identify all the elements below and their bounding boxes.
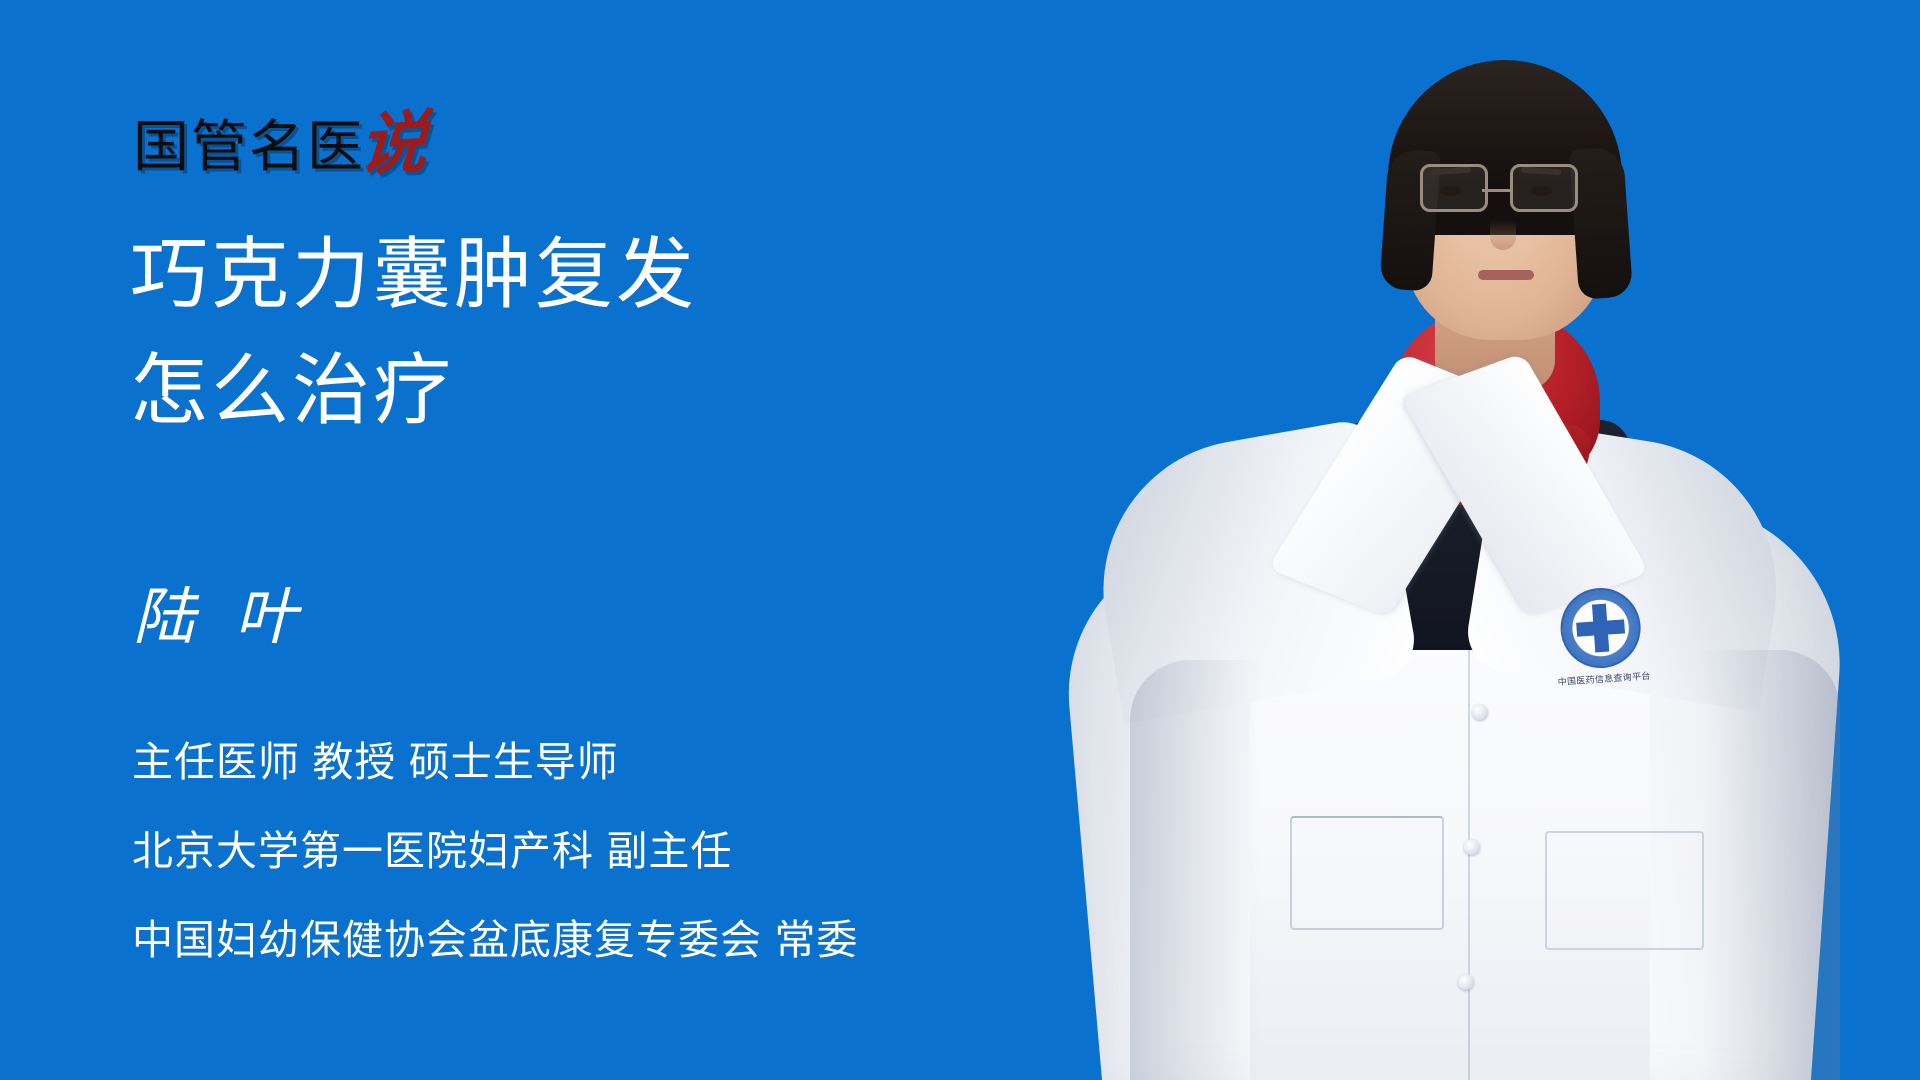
eyeglasses-lens-right — [1510, 164, 1578, 212]
lab-coat-collar-left — [1267, 353, 1522, 617]
lab-coat-shoulder-left — [1080, 416, 1421, 724]
eyeglasses-lens-left — [1420, 164, 1488, 212]
brand-logo-main-text: 国管名医 — [133, 120, 365, 176]
coat-badge: 中国医药信息查询平台 — [1544, 584, 1660, 711]
lab-coat-button-1 — [1472, 704, 1488, 720]
brand-logo-accent-text: 说 — [357, 112, 429, 178]
cross-horizontal-bar — [1576, 619, 1625, 636]
headline-line-2: 怎么治疗 — [130, 332, 697, 448]
face — [1405, 90, 1605, 340]
lab-coat-button-2 — [1464, 839, 1480, 855]
mouth — [1478, 270, 1534, 280]
cross-vertical-bar — [1592, 604, 1609, 653]
doctor-portrait-photo: 中国医药信息查询平台 — [1040, 0, 1920, 1080]
lab-coat-center — [1250, 460, 1650, 1080]
nose — [1490, 220, 1516, 250]
lab-coat-shoulder-right — [1462, 418, 1797, 712]
lab-coat-pocket-right — [1545, 831, 1704, 950]
eyeglasses-bridge — [1482, 189, 1510, 192]
brand-logo: 国管名医 说 — [133, 96, 427, 176]
eyebrow-left — [1431, 167, 1471, 176]
coat-badge-caption: 中国医药信息查询平台 — [1550, 668, 1659, 689]
hair-side-left — [1379, 148, 1441, 291]
credential-line-1: 主任医师 教授 硕士生导师 — [132, 718, 858, 807]
eyebrow-right — [1521, 167, 1561, 176]
eye-left — [1440, 186, 1462, 196]
lab-coat-collar-right — [1400, 353, 1649, 617]
lab-coat-right-panel — [1380, 486, 1851, 1080]
lab-coat-button-3 — [1458, 974, 1474, 990]
medical-cross-icon — [1558, 585, 1643, 670]
video-cover-slide: 国管名医 说 巧克力囊肿复发 怎么治疗 陆 叶 主任医师 教授 硕士生导师 北京… — [0, 0, 1920, 1080]
red-scarf — [1390, 310, 1600, 480]
lab-coat-left-panel — [1056, 525, 1483, 1080]
neck — [1435, 270, 1555, 390]
red-scarf-fold — [1400, 425, 1590, 505]
eye-right — [1530, 186, 1552, 196]
doctor-credentials: 主任医师 教授 硕士生导师 北京大学第一医院妇产科 副主任 中国妇幼保健协会盆底… — [132, 718, 858, 985]
hair-top — [1388, 60, 1622, 235]
lab-coat-seam — [1468, 650, 1470, 1080]
inner-garment — [1340, 420, 1630, 650]
hair-side-right — [1569, 146, 1633, 299]
arm-shadow-right — [1700, 650, 1840, 1080]
doctor-name: 陆 叶 — [133, 586, 307, 648]
headline-title: 巧克力囊肿复发 怎么治疗 — [130, 216, 697, 448]
credential-line-2: 北京大学第一医院妇产科 副主任 — [132, 807, 858, 896]
headline-line-1: 巧克力囊肿复发 — [130, 216, 697, 332]
credential-line-3: 中国妇幼保健协会盆底康复专委会 常委 — [132, 896, 858, 985]
arm-shadow-left — [1130, 660, 1260, 1080]
lab-coat-pocket-left — [1290, 816, 1444, 930]
